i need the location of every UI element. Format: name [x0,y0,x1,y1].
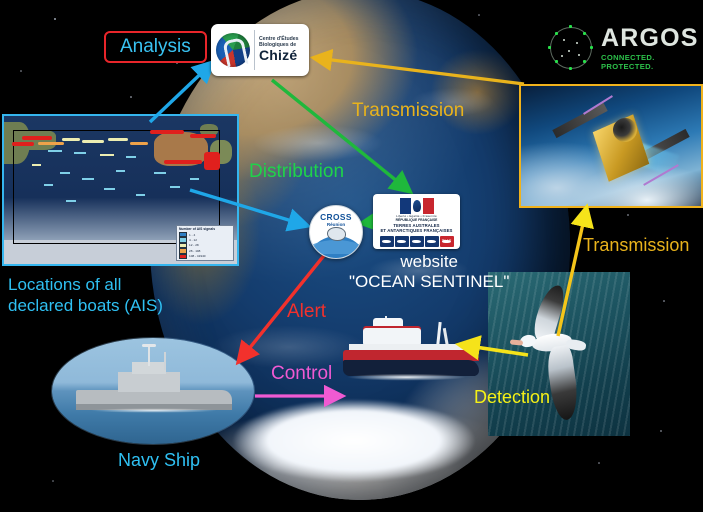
taaf-icon-2 [395,236,409,247]
label-website: website "OCEAN SENTINEL" [349,252,509,292]
cross-reunion-logo[interactable]: CROSS Réunion [309,205,363,259]
label-navy-ship: Navy Ship [118,450,200,471]
taaf-badge: TAAF [440,236,454,247]
label-distribution: Distribution [249,161,344,183]
label-alert: Alert [287,301,326,323]
ais-caption-line2: declared boats (AIS) [8,295,163,316]
ais-caption-line1: Locations of all [8,274,163,295]
taaf-icon-1 [380,236,394,247]
website-line2: "OCEAN SENTINEL" [349,272,509,292]
label-transmission-satellite: Transmission [352,100,464,122]
albatross-photo [488,272,630,436]
chize-logo[interactable]: Centre d'Études Biologiques de Chizé [211,24,309,76]
ais-legend-range: 1 - 4 [189,233,195,237]
ais-legend-range: 108 - 41940 [189,254,206,258]
globe-icon [216,33,250,67]
label-detection: Detection [474,387,550,408]
argos-tagline: CONNECTED. PROTECTED. [601,53,699,71]
divider [254,30,255,70]
ais-legend-range: 12 - 28 [189,243,199,247]
ais-legend-range: 28 - 108 [189,249,200,253]
chize-line3: Chizé [259,48,299,63]
ais-legend: Number of AIS signals 1 - 4 4 - 12 12 - … [176,225,234,261]
label-transmission-bird: Transmission [583,235,689,256]
argos-wordmark: ARGOS [601,26,699,51]
island-icon [327,227,346,241]
ais-legend-item: 108 - 41940 [179,254,231,259]
taaf-icon-3 [410,236,424,247]
ais-legend-range: 4 - 12 [189,238,197,242]
fishing-vessel-photo [339,316,484,388]
taaf-title-line2: ET ANTARCTIQUES FRANÇAISES [376,228,457,233]
website-line1: website [349,252,509,272]
argos-logo[interactable]: ARGOS CONNECTED. PROTECTED. [548,20,694,76]
label-analysis: Analysis [104,31,207,63]
taaf-republic: RÉPUBLIQUE FRANÇAISE [376,218,457,222]
infographic-canvas: Number of AIS signals 1 - 4 4 - 12 12 - … [0,0,703,512]
network-globe-icon [548,25,594,71]
argos-satellite-photo [519,84,703,208]
taaf-icon-4 [425,236,439,247]
cross-word: CROSS [310,212,362,222]
label-ais-caption: Locations of all declared boats (AIS) [8,274,163,316]
navy-ship-photo [52,338,254,444]
ais-density-map: Number of AIS signals 1 - 4 4 - 12 12 - … [2,114,239,266]
label-control: Control [271,363,332,385]
taaf-logo[interactable]: Liberté • Égalité • Fraternité RÉPUBLIQU… [373,194,460,249]
french-flag-icon [400,198,434,214]
